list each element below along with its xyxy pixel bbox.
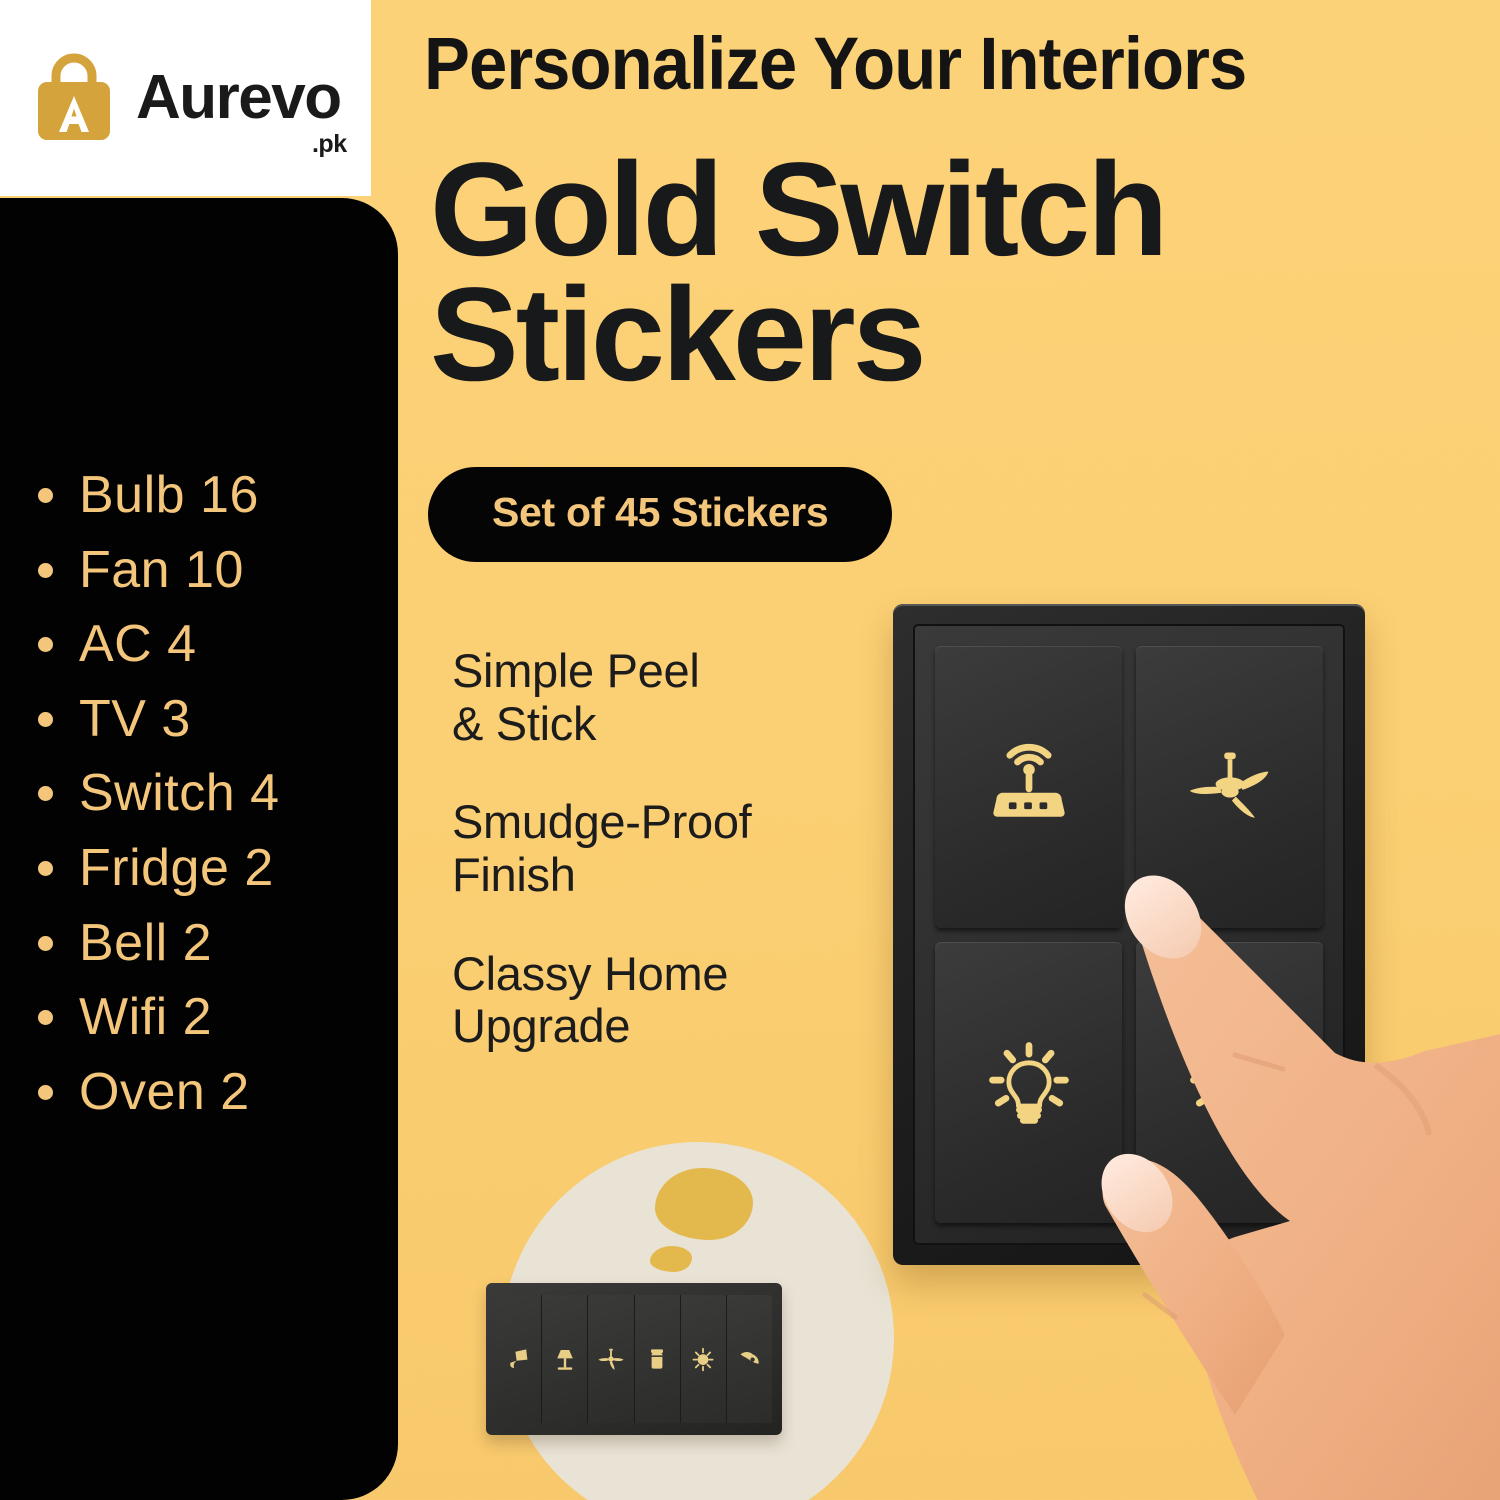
bullet-icon — [38, 488, 53, 503]
bullet-icon — [38, 637, 53, 652]
sidebar-panel: Bulb 16 Fan 10 AC 4 TV 3 Switch 4 Fridge… — [0, 198, 398, 1500]
benefits-list: Simple Peel & Stick Smudge-Proof Finish … — [452, 645, 852, 1099]
list-item-label: Switch 4 — [79, 766, 280, 821]
bullet-icon — [38, 936, 53, 951]
eyebrow-heading: Personalize Your Interiors — [424, 27, 1391, 101]
gold-splash-large — [655, 1168, 753, 1240]
list-item-label: Fan 10 — [79, 543, 244, 598]
brand-tld: .pk — [312, 130, 347, 159]
benefit-line: Simple Peel — [452, 645, 852, 698]
water-heater-icon — [642, 1344, 672, 1374]
wifi-router-icon — [981, 739, 1077, 835]
benefit-line: Classy Home — [452, 948, 852, 1001]
list-item-label: Fridge 2 — [79, 841, 274, 896]
bullet-icon — [38, 712, 53, 727]
list-item: Fan 10 — [38, 543, 388, 598]
list-item-label: Bulb 16 — [79, 468, 259, 523]
benefit-line: Smudge-Proof — [452, 796, 852, 849]
mini-switch-light[interactable] — [681, 1295, 727, 1423]
list-item-label: AC 4 — [79, 617, 197, 672]
gold-splash-small — [650, 1246, 692, 1272]
light-bulb-icon — [981, 1034, 1077, 1130]
brand-name: Aurevo — [136, 69, 341, 128]
benefit-line: Finish — [452, 849, 852, 902]
list-item-label: TV 3 — [79, 692, 191, 747]
list-item: TV 3 — [38, 692, 388, 747]
wall-lamp-icon — [504, 1344, 534, 1374]
bullet-icon — [38, 1010, 53, 1025]
list-item: Wifi 2 — [38, 990, 388, 1045]
wall-sconce-icon — [734, 1344, 764, 1374]
mini-switch-fan[interactable] — [588, 1295, 634, 1423]
list-item: Bell 2 — [38, 916, 388, 971]
bullet-icon — [38, 563, 53, 578]
list-item: Bulb 16 — [38, 468, 388, 523]
bullet-icon — [38, 1085, 53, 1100]
page-title-line2: Stickers — [430, 273, 1430, 398]
page-title-line1: Gold Switch — [430, 148, 1430, 273]
mini-switch-wall-lamp[interactable] — [496, 1295, 542, 1423]
benefit-line: Upgrade — [452, 1000, 852, 1053]
ceiling-fan-icon — [596, 1344, 626, 1374]
page-title: Gold Switch Stickers — [430, 148, 1430, 398]
list-item: Fridge 2 — [38, 841, 388, 896]
bullet-icon — [38, 786, 53, 801]
mini-switch-wall-sconce[interactable] — [727, 1295, 772, 1423]
benefit-item: Smudge-Proof Finish — [452, 796, 852, 901]
hand-illustration — [1085, 855, 1500, 1500]
list-item: Oven 2 — [38, 1065, 388, 1120]
ceiling-fan-icon — [1182, 739, 1278, 835]
list-item: Switch 4 — [38, 766, 388, 821]
mini-switch-plate — [486, 1283, 782, 1435]
sticker-count-list: Bulb 16 Fan 10 AC 4 TV 3 Switch 4 Fridge… — [38, 468, 388, 1139]
list-item-label: Oven 2 — [79, 1065, 250, 1120]
benefit-line: & Stick — [452, 698, 852, 751]
shopping-bag-icon — [26, 50, 122, 146]
brand-logo-box: Aurevo .pk — [0, 0, 371, 196]
list-item-label: Bell 2 — [79, 916, 212, 971]
bullet-icon — [38, 861, 53, 876]
status-badge: Set of 45 Stickers — [428, 467, 892, 562]
table-lamp-icon — [550, 1344, 580, 1374]
list-item-label: Wifi 2 — [79, 990, 212, 1045]
benefit-item: Classy Home Upgrade — [452, 948, 852, 1053]
mini-switch-water-heater[interactable] — [635, 1295, 681, 1423]
sun-light-icon — [688, 1344, 718, 1374]
mini-switch-table-lamp[interactable] — [542, 1295, 588, 1423]
inset-product-photo — [470, 1128, 890, 1500]
benefit-item: Simple Peel & Stick — [452, 645, 852, 750]
mini-switch-row — [496, 1295, 772, 1423]
list-item: AC 4 — [38, 617, 388, 672]
